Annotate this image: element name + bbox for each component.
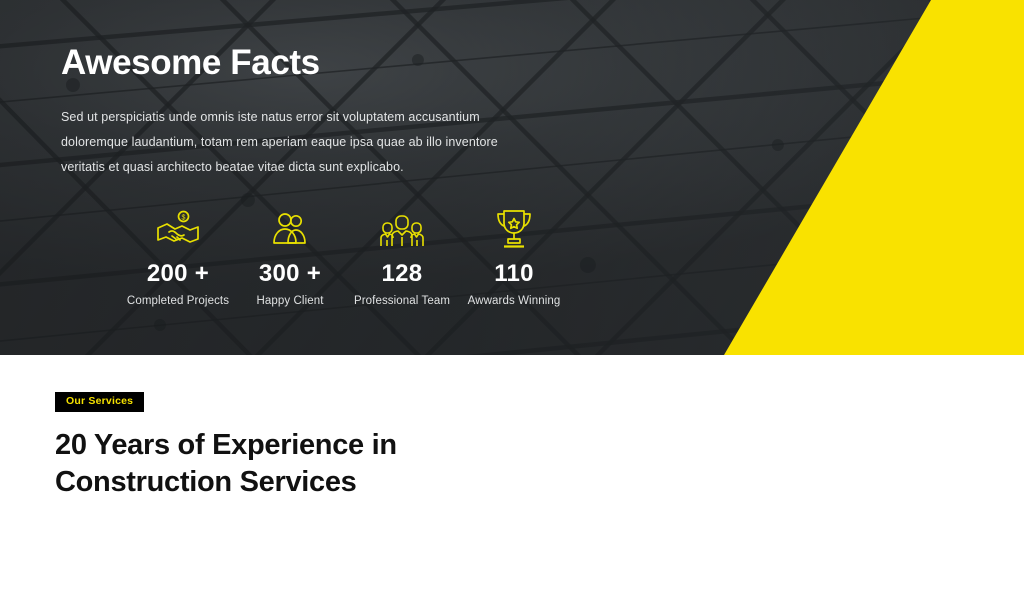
- stat-item-completed-projects: $ 200 + Completed Projects: [122, 206, 234, 307]
- stat-label: Completed Projects: [122, 295, 234, 307]
- stat-label: Happy Client: [234, 295, 346, 307]
- services-section: Our Services 20 Years of Experience in C…: [0, 355, 1024, 593]
- hero-description: Sed ut perspiciatis unde omnis iste natu…: [61, 105, 531, 180]
- stat-item-awards-winning: 110 Awwards Winning: [458, 206, 570, 307]
- stat-value: 300 +: [234, 262, 346, 286]
- hero-title: Awesome Facts: [61, 44, 1024, 83]
- stat-value: 128: [346, 262, 458, 286]
- two-people-icon: [234, 206, 346, 250]
- team-group-icon: [346, 206, 458, 250]
- stat-label: Professional Team: [346, 295, 458, 307]
- section-badge: Our Services: [55, 392, 144, 412]
- stat-item-professional-team: 128 Professional Team: [346, 206, 458, 307]
- services-intro: Our Services 20 Years of Experience in C…: [55, 391, 415, 501]
- handshake-money-icon: $: [122, 206, 234, 250]
- stat-value: 110: [458, 262, 570, 286]
- svg-text:$: $: [182, 214, 186, 221]
- services-heading: 20 Years of Experience in Construction S…: [55, 427, 415, 501]
- stat-label: Awwards Winning: [458, 295, 570, 307]
- trophy-icon: [458, 206, 570, 250]
- stat-item-happy-client: 300 + Happy Client: [234, 206, 346, 307]
- stat-value: 200 +: [122, 262, 234, 286]
- hero-section: Awesome Facts Sed ut perspiciatis unde o…: [0, 0, 1024, 355]
- stats-row: $ 200 + Completed Projects: [61, 206, 1024, 307]
